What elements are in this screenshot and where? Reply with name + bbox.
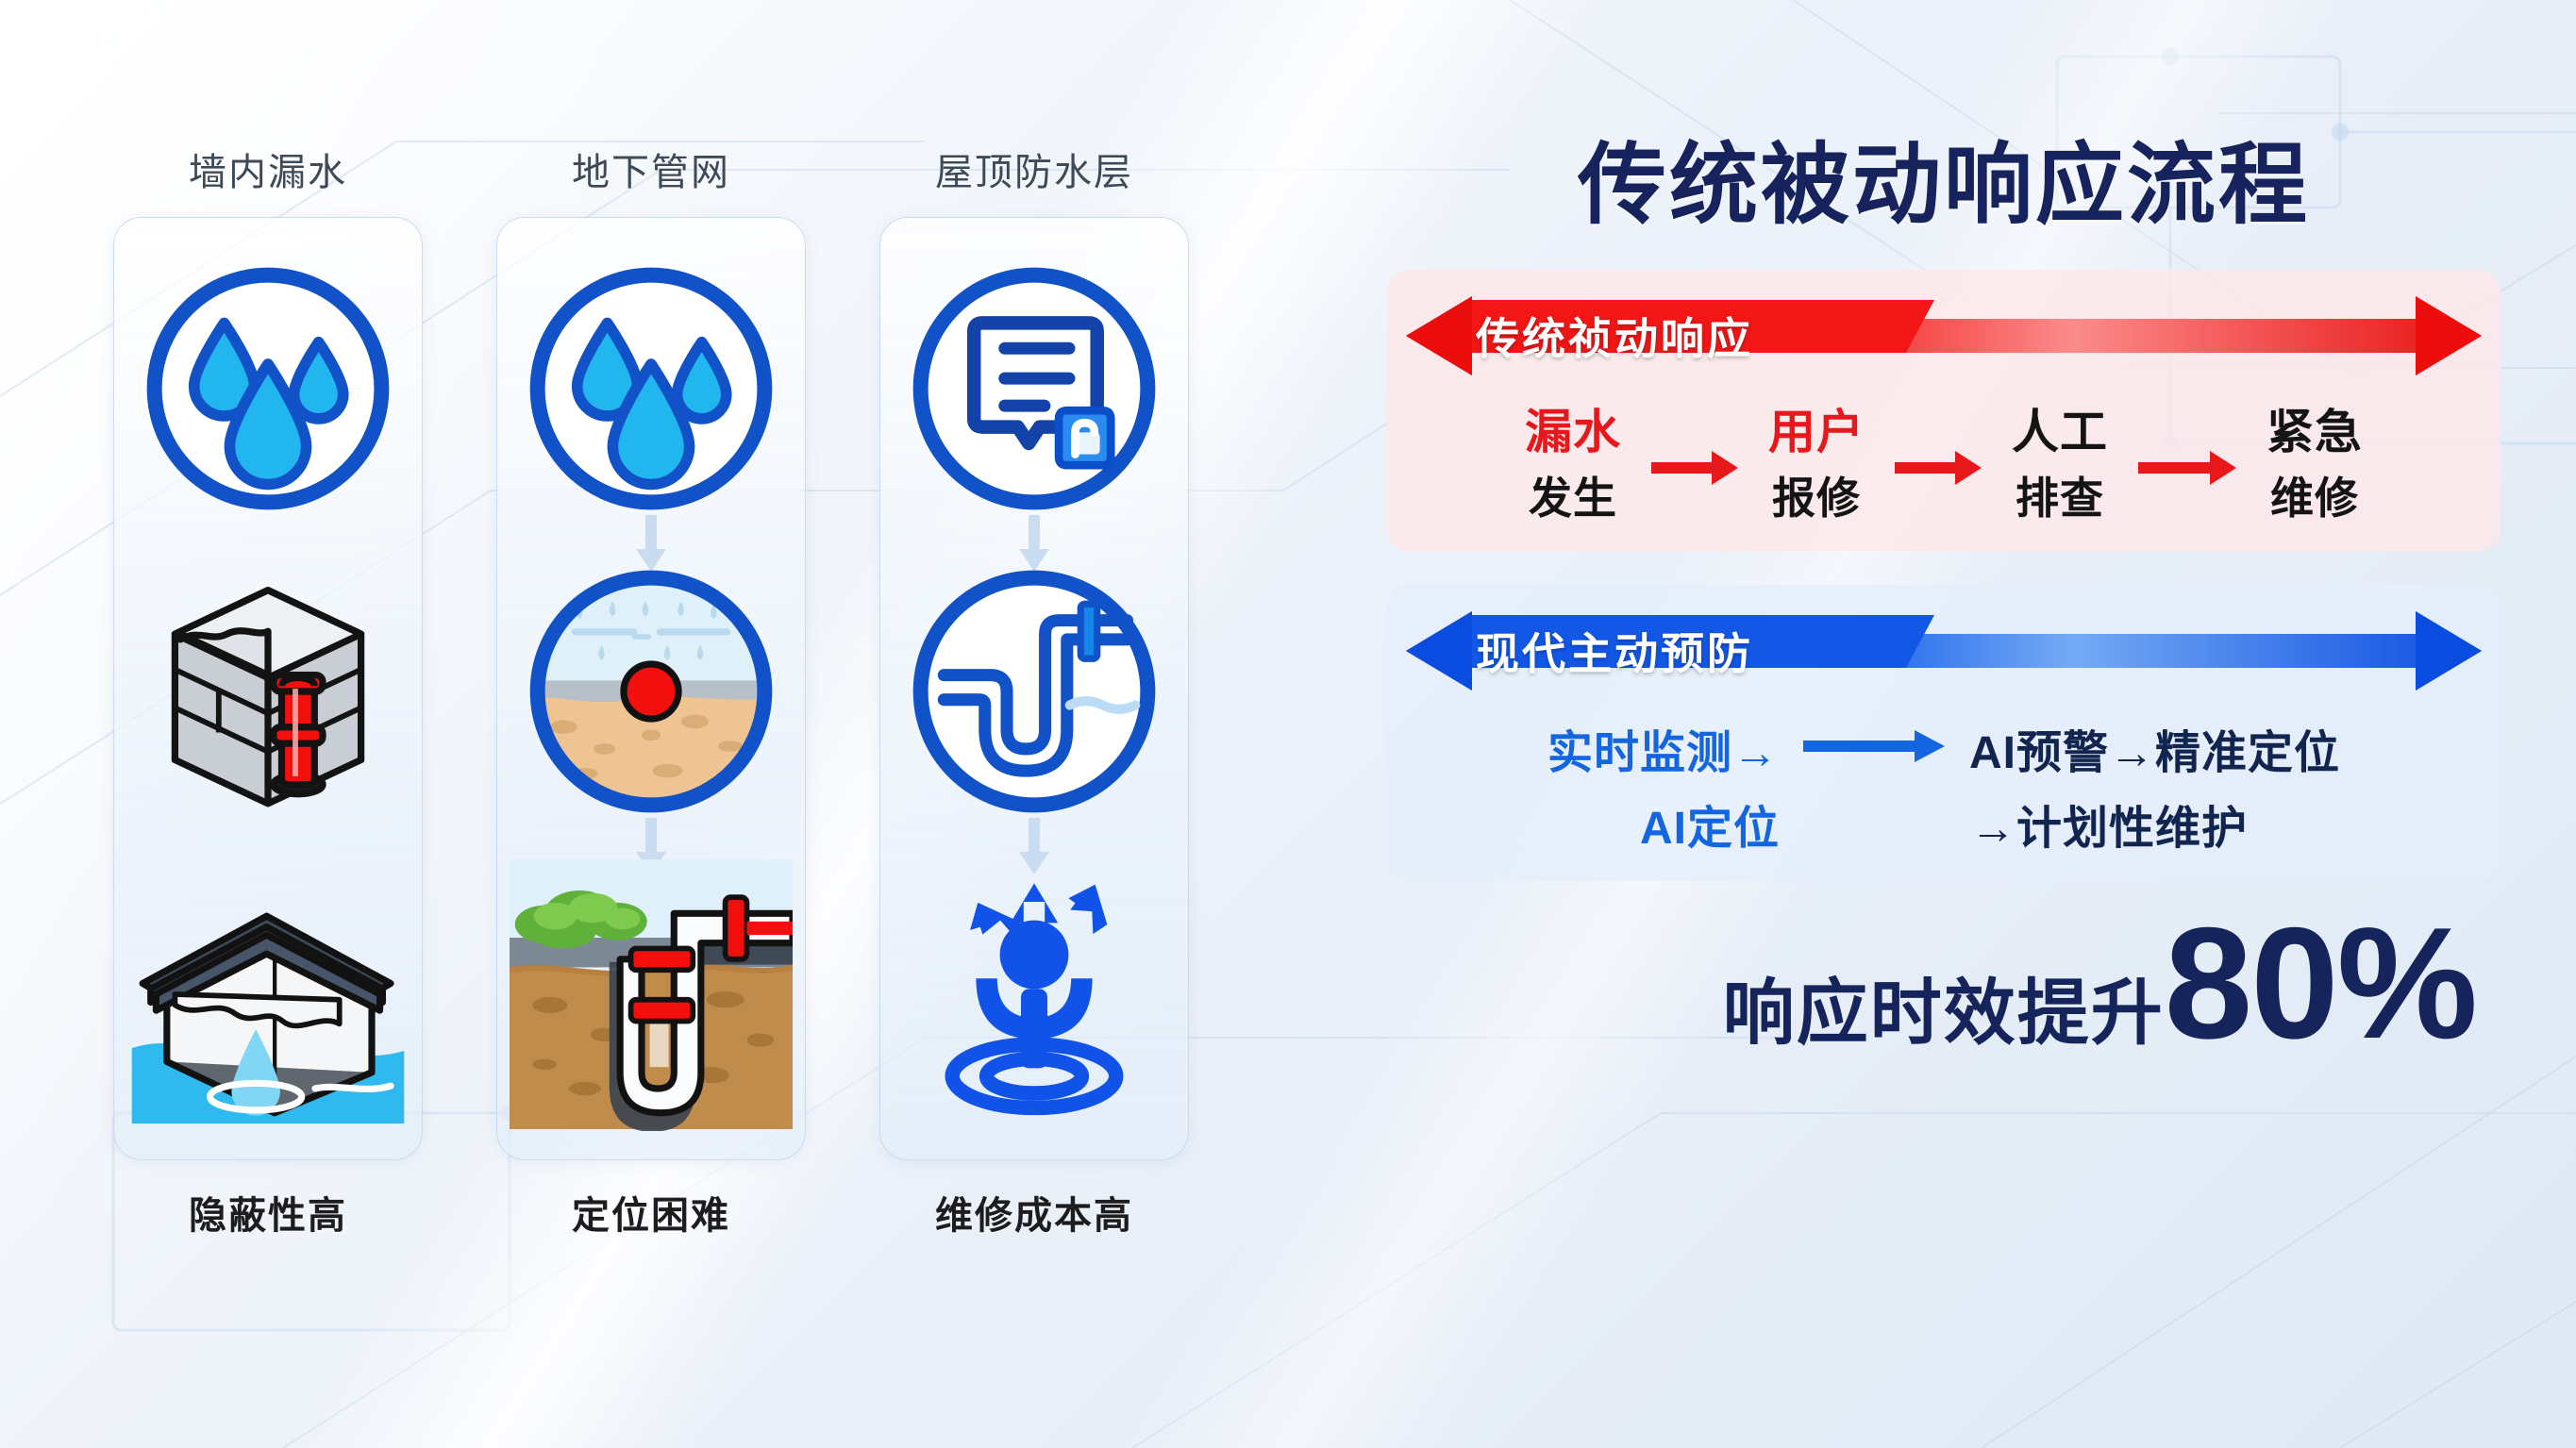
flow-step: 漏水 发生 <box>1502 394 1644 526</box>
modern-line2-left: AI定位 <box>1640 791 1780 857</box>
flow-step: 用户 报修 <box>1746 394 1887 526</box>
traditional-banner: 传统祯动响应 <box>1406 291 2482 381</box>
water-drops-icon <box>126 247 410 530</box>
ground-leak-marker-icon <box>510 550 793 833</box>
modern-line1-right: AI预警→精准定位 <box>1969 715 2340 781</box>
step-title: 漏水 <box>1525 394 1621 462</box>
plumbing-trap-icon <box>893 550 1176 833</box>
column-card <box>496 217 806 1160</box>
page-title: 传统被动响应流程 <box>1387 113 2501 241</box>
step-subtitle: 维修 <box>2270 464 2359 526</box>
column-heading: 墙内漏水 <box>189 141 347 196</box>
column-card <box>879 217 1189 1160</box>
kpi-label: 响应时效提升 <box>1723 955 2165 1058</box>
arrow-right-red-icon <box>1651 434 1738 487</box>
modern-step-lines: 实时监测→ AI预警→精准定位 AI定位 →计划性维护 <box>1406 709 2482 857</box>
problem-column-wall-leak: 墙内漏水 <box>113 141 423 1273</box>
step-title: 人工 <box>2012 394 2108 462</box>
brick-wall-pipe-icon <box>126 550 410 833</box>
modern-line-2: AI定位 →计划性维护 <box>1415 791 2472 857</box>
modern-line1-left: 实时监测→ <box>1547 715 1779 781</box>
problem-column-roof-waterproofing: 屋顶防水层 <box>879 141 1189 1273</box>
arrow-right-blue-icon <box>1803 728 1945 769</box>
kpi-value: 80% <box>2165 915 2476 1051</box>
process-comparison-panel: 传统被动响应流程 <box>1387 113 2501 1058</box>
arrow-right-red-icon <box>1895 434 1982 487</box>
column-caption: 维修成本高 <box>935 1185 1133 1240</box>
column-caption: 定位困难 <box>572 1185 730 1240</box>
traditional-flow-block: 传统祯动响应 漏水 发生 用户 报修 人工 <box>1387 270 2501 551</box>
column-heading: 地下管网 <box>572 141 730 196</box>
modern-line2-right: →计划性维护 <box>1970 791 2248 857</box>
step-subtitle: 排查 <box>2016 464 2104 526</box>
underground-pipe-icon <box>510 853 793 1136</box>
column-heading: 屋顶防水层 <box>935 141 1133 196</box>
step-subtitle: 发生 <box>1529 464 1617 526</box>
flow-step: 人工 排查 <box>1989 394 2131 526</box>
arrow-right-red-icon <box>2138 434 2236 487</box>
modern-banner-label: 现代主动预防 <box>1476 620 1753 682</box>
modern-banner: 现代主动预防 <box>1406 606 2482 696</box>
traditional-banner-label: 传统祯动响应 <box>1476 305 1753 367</box>
pinpoint-location-icon <box>893 853 1176 1136</box>
column-card <box>113 217 423 1160</box>
flooded-house-icon <box>126 853 410 1136</box>
traditional-step-row: 漏水 发生 用户 报修 人工 排查 <box>1406 394 2482 526</box>
modern-flow-block: 现代主动预防 实时监测→ AI预警→精准定位 AI定位 →计划性维护 <box>1387 585 2501 881</box>
kpi-block: 响应时效提升 80% <box>1387 915 2501 1058</box>
column-caption: 隐蔽性高 <box>189 1185 347 1240</box>
step-title: 用户 <box>1768 394 1865 462</box>
water-drops-icon <box>510 247 793 530</box>
modern-line-1: 实时监测→ AI预警→精准定位 <box>1415 715 2472 781</box>
problem-columns-panel: 墙内漏水 <box>113 141 1359 1273</box>
problem-column-underground-pipes: 地下管网 <box>496 141 806 1273</box>
step-title: 紧急 <box>2267 394 2363 462</box>
step-subtitle: 报修 <box>1772 464 1861 526</box>
invoice-cost-icon <box>893 247 1176 530</box>
flow-step: 紧急 维修 <box>2244 394 2385 526</box>
